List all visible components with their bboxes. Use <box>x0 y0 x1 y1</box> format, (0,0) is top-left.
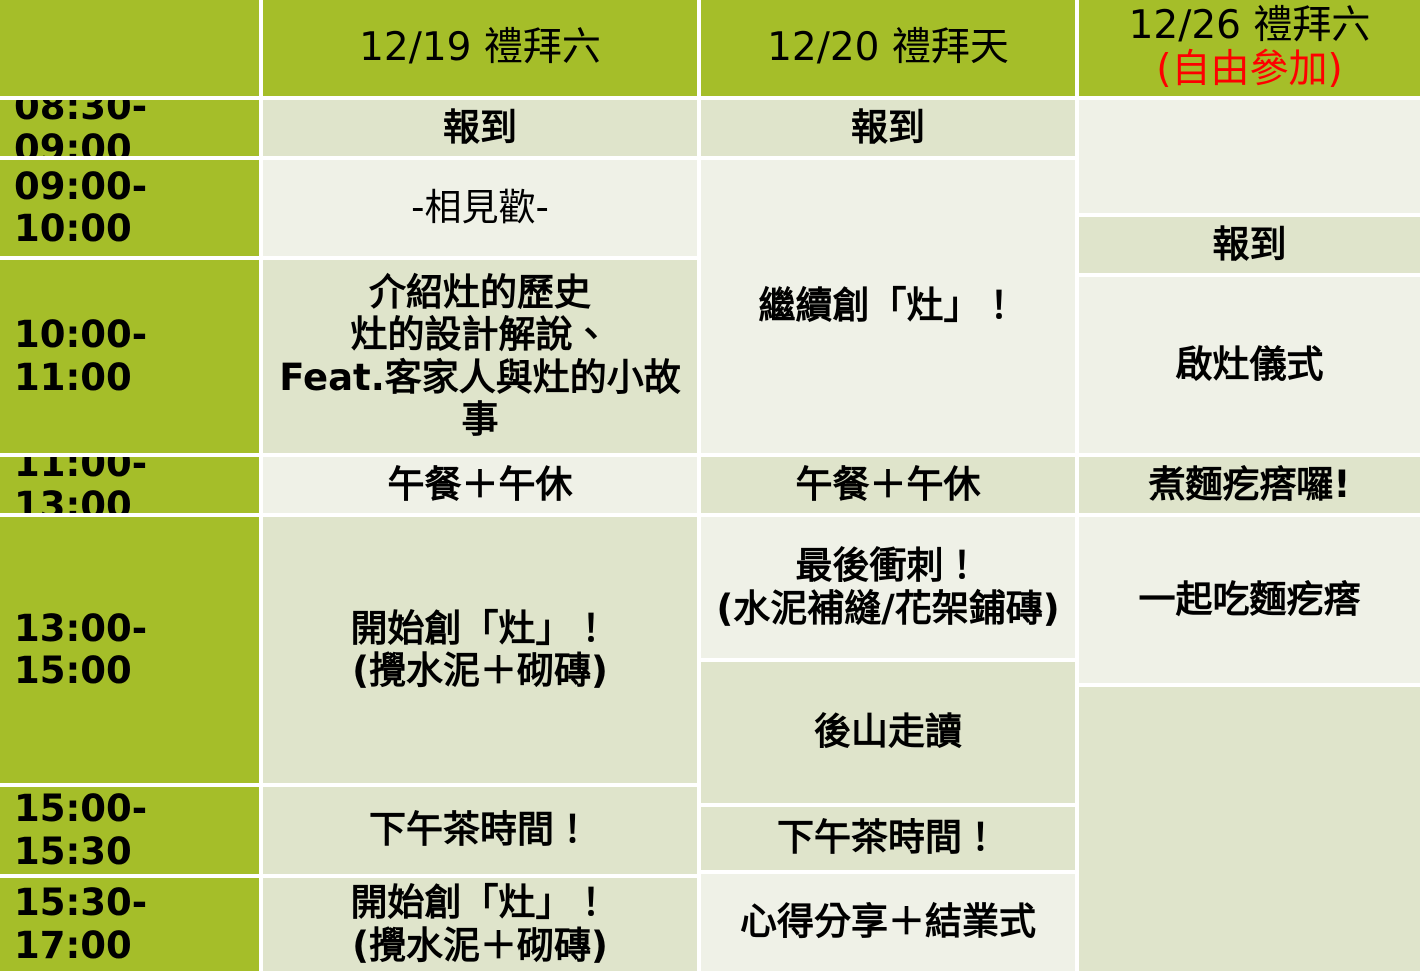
time-slot-1000-1100: 10:00-11:00 <box>0 260 259 453</box>
time-label: 15:00-15:30 <box>14 788 255 872</box>
column-header-day3: 12/26 禮拜六 (自由參加) <box>1079 0 1420 96</box>
cell-day3-cooking: 煮麵疙瘩囉! <box>1079 457 1420 513</box>
cell-day3-ceremony: 啟灶儀式 <box>1079 277 1420 453</box>
time-slot-0830-0900: 08:30-09:00 <box>0 100 259 156</box>
time-label: 11:00-13:00 <box>14 457 255 513</box>
time-slot-0900-1000: 09:00-10:00 <box>0 160 259 256</box>
time-slot-1530-1700: 15:30-17:00 <box>0 878 259 971</box>
cell-text: 煮麵疙瘩囉! <box>1083 464 1416 506</box>
column-header-day2-label: 12/20 禮拜天 <box>705 26 1071 70</box>
column-header-day3-note: (自由參加) <box>1083 48 1416 92</box>
time-label: 13:00-15:00 <box>14 608 255 692</box>
cell-day1-0900: -相見歡- <box>263 160 697 256</box>
cell-text-line2: (攪水泥＋砌磚) <box>267 650 693 692</box>
cell-day3-empty-bottom <box>1079 687 1420 971</box>
cell-day2-1100: 午餐＋午休 <box>701 457 1075 513</box>
cell-text: 報到 <box>267 107 693 149</box>
time-label: 08:30-09:00 <box>14 100 255 156</box>
table-corner-cell <box>0 0 259 96</box>
cell-day2-0830: 報到 <box>701 100 1075 156</box>
cell-day3-checkin: 報到 <box>1079 217 1420 273</box>
time-label: 15:30-17:00 <box>14 882 255 966</box>
cell-text-line1: 開始創「灶」！ <box>267 882 693 924</box>
cell-text-line2: (水泥補縫/花架鋪磚) <box>705 588 1071 630</box>
cell-text: 啟灶儀式 <box>1083 344 1416 386</box>
cell-text-line1: 最後衝刺！ <box>705 545 1071 587</box>
cell-text: -相見歡- <box>267 187 693 229</box>
cell-text: 報到 <box>705 107 1071 149</box>
time-label: 09:00-10:00 <box>14 166 255 250</box>
cell-day1-1530: 開始創「灶」！ (攪水泥＋砌磚) <box>263 878 697 971</box>
cell-day1-1300: 開始創「灶」！ (攪水泥＋砌磚) <box>263 517 697 783</box>
cell-text: 下午茶時間！ <box>267 809 693 851</box>
cell-day1-1000: 介紹灶的歷史 灶的設計解說、 Feat.客家人與灶的小故事 <box>263 260 697 453</box>
cell-day3-eating: 一起吃麵疙瘩 <box>1079 517 1420 683</box>
column-header-day1-label: 12/19 禮拜六 <box>267 26 693 70</box>
cell-day2-1530: 心得分享＋結業式 <box>701 874 1075 971</box>
cell-text: 報到 <box>1083 224 1416 266</box>
column-header-day3-label: 12/26 禮拜六 <box>1083 4 1416 48</box>
cell-text: 午餐＋午休 <box>267 464 693 506</box>
time-slot-1100-1300: 11:00-13:00 <box>0 457 259 513</box>
cell-day2-1300-walk: 後山走讀 <box>701 662 1075 803</box>
cell-text: 一起吃麵疙瘩 <box>1083 579 1416 621</box>
cell-text-line1: 介紹灶的歷史 <box>267 272 693 314</box>
cell-text: 午餐＋午休 <box>705 464 1071 506</box>
cell-text-line1: 開始創「灶」！ <box>267 608 693 650</box>
column-header-day2: 12/20 禮拜天 <box>701 0 1075 96</box>
cell-day3-empty-top <box>1079 100 1420 213</box>
cell-day1-1500: 下午茶時間！ <box>263 787 697 874</box>
cell-day2-0900-1100: 繼續創「灶」！ <box>701 160 1075 453</box>
column-header-day1: 12/19 禮拜六 <box>263 0 697 96</box>
cell-text-line2: (攪水泥＋砌磚) <box>267 925 693 967</box>
time-slot-1300-1500: 13:00-15:00 <box>0 517 259 783</box>
cell-text: 下午茶時間！ <box>705 817 1071 859</box>
cell-day1-1100: 午餐＋午休 <box>263 457 697 513</box>
cell-day2-1300-sprint: 最後衝刺！ (水泥補縫/花架鋪磚) <box>701 517 1075 658</box>
schedule-table: 12/19 禮拜六 12/20 禮拜天 12/26 禮拜六 (自由參加) 08:… <box>0 0 1420 971</box>
cell-text-line3: Feat.客家人與灶的小故事 <box>267 357 693 441</box>
cell-text-line2: 灶的設計解說、 <box>267 314 693 356</box>
time-slot-1500-1530: 15:00-15:30 <box>0 787 259 874</box>
cell-text: 心得分享＋結業式 <box>705 901 1071 943</box>
cell-day2-1500: 下午茶時間！ <box>701 807 1075 870</box>
cell-text: 繼續創「灶」！ <box>705 285 1071 327</box>
cell-day1-0830: 報到 <box>263 100 697 156</box>
cell-text: 後山走讀 <box>705 711 1071 753</box>
time-label: 10:00-11:00 <box>14 314 255 398</box>
